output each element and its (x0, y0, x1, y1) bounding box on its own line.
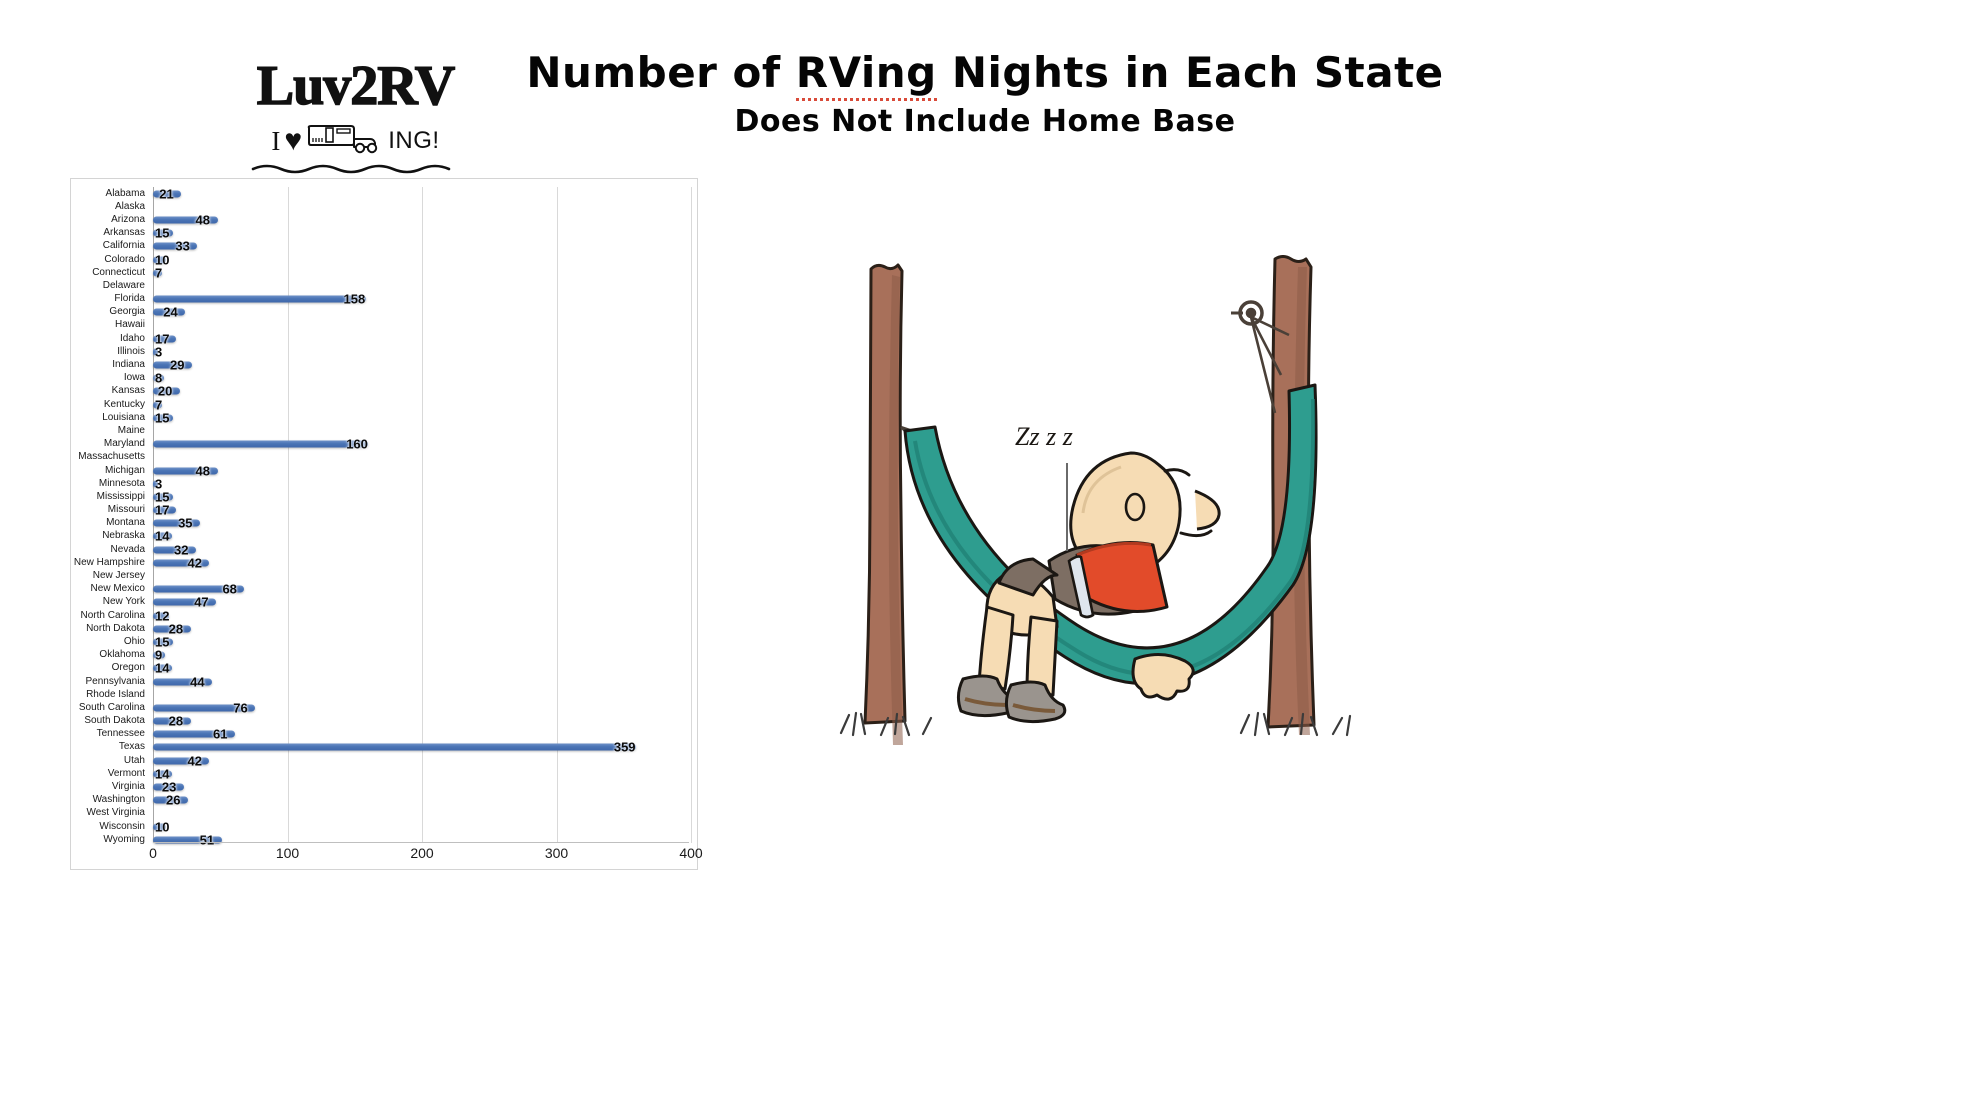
bar-value-label: 15 (155, 410, 169, 425)
bar-track: 33 (153, 240, 697, 253)
chart-row: Vermont14 (71, 767, 697, 780)
category-label-new-jersey: New Jersey (71, 571, 153, 581)
bar-track: 17 (153, 504, 697, 517)
category-label-maryland: Maryland (71, 439, 153, 449)
category-label-california: California (71, 241, 153, 251)
bar-value-label: 44 (190, 674, 204, 689)
category-label-alaska: Alaska (71, 202, 153, 212)
chart-row: Delaware (71, 279, 697, 292)
logo-wordmark: Luv2RV (218, 58, 493, 114)
chart-row: Mississippi15 (71, 490, 697, 503)
category-label-alabama: Alabama (71, 189, 153, 199)
bar-value-label: 10 (155, 819, 169, 834)
bar-track: 17 (153, 332, 697, 345)
x-tick-label-100: 100 (276, 845, 299, 861)
bar-value-label: 28 (169, 621, 183, 636)
chart-row: Connecticut7 (71, 266, 697, 279)
chart-row: Illinois3 (71, 345, 697, 358)
title-prefix: Number of (526, 48, 795, 97)
bar-track: 10 (153, 820, 697, 833)
bar-track: 23 (153, 780, 697, 793)
chart-row: Kansas20 (71, 385, 697, 398)
category-label-louisiana: Louisiana (71, 413, 153, 423)
category-label-south-dakota: South Dakota (71, 716, 153, 726)
category-label-wisconsin: Wisconsin (71, 822, 153, 832)
chart-row: Wisconsin10 (71, 820, 697, 833)
bar-texas[interactable] (153, 744, 636, 751)
x-tick-label-200: 200 (410, 845, 433, 861)
bar-value-label: 14 (155, 529, 169, 544)
bar-track: 14 (153, 662, 697, 675)
bar-montana[interactable] (153, 520, 200, 527)
x-axis-line (153, 842, 689, 843)
bar-track: 68 (153, 583, 697, 596)
bar-track: 29 (153, 358, 697, 371)
chart-row: Nevada32 (71, 543, 697, 556)
bar-track: 48 (153, 213, 697, 226)
bar-value-label: 3 (155, 344, 162, 359)
bar-track (153, 451, 697, 464)
bar-value-label: 12 (155, 608, 169, 623)
chart-row: Maryland160 (71, 438, 697, 451)
x-tick-label-300: 300 (545, 845, 568, 861)
chart-row: Ohio15 (71, 635, 697, 648)
chart-row: Rhode Island (71, 688, 697, 701)
chart-row: South Carolina76 (71, 701, 697, 714)
category-label-missouri: Missouri (71, 505, 153, 515)
bar-track: 14 (153, 530, 697, 543)
category-label-michigan: Michigan (71, 466, 153, 476)
category-label-delaware: Delaware (71, 281, 153, 291)
chart-row: North Carolina12 (71, 609, 697, 622)
category-label-arizona: Arizona (71, 215, 153, 225)
bar-track: 21 (153, 187, 697, 200)
bar-value-label: 68 (222, 582, 236, 597)
chart-row: Arkansas15 (71, 227, 697, 240)
bar-track: 48 (153, 464, 697, 477)
chart-row: Texas359 (71, 741, 697, 754)
sleeping-man (958, 453, 1219, 722)
category-label-tennessee: Tennessee (71, 729, 153, 739)
bar-value-label: 48 (196, 463, 210, 478)
bar-track: 160 (153, 438, 697, 451)
chart-row: Maine (71, 424, 697, 437)
chart-row: Oregon14 (71, 662, 697, 675)
category-label-rhode-island: Rhode Island (71, 690, 153, 700)
bar-chart: Alabama21AlaskaArizona48Arkansas15Califo… (70, 178, 698, 870)
bar-track: 14 (153, 767, 697, 780)
category-label-north-carolina: North Carolina (71, 611, 153, 621)
bar-track: 3 (153, 345, 697, 358)
category-label-mississippi: Mississippi (71, 492, 153, 502)
category-label-texas: Texas (71, 742, 153, 752)
category-label-kansas: Kansas (71, 386, 153, 396)
bar-track: 7 (153, 266, 697, 279)
bar-track: 42 (153, 754, 697, 767)
chart-row: West Virginia (71, 807, 697, 820)
logo-tagline-ing: ING! (388, 127, 439, 155)
chart-row: Indiana29 (71, 358, 697, 371)
category-label-virginia: Virginia (71, 782, 153, 792)
heart-icon: ♥ (284, 126, 302, 156)
category-label-new-hampshire: New Hampshire (71, 558, 153, 568)
chart-row: Idaho17 (71, 332, 697, 345)
category-label-maine: Maine (71, 426, 153, 436)
category-label-indiana: Indiana (71, 360, 153, 370)
category-label-nevada: Nevada (71, 545, 153, 555)
bar-value-label: 32 (174, 542, 188, 557)
chart-row: Utah42 (71, 754, 697, 767)
category-label-colorado: Colorado (71, 255, 153, 265)
bar-value-label: 160 (346, 437, 368, 452)
bar-track: 32 (153, 543, 697, 556)
page-title: Number of RVing Nights in Each State (470, 48, 1500, 97)
bar-track: 3 (153, 477, 697, 490)
bar-value-label: 33 (175, 239, 189, 254)
zzz-label: Zz z z (1015, 422, 1073, 451)
category-label-ohio: Ohio (71, 637, 153, 647)
bar-value-label: 61 (213, 727, 227, 742)
bar-value-label: 24 (163, 305, 177, 320)
category-label-oregon: Oregon (71, 663, 153, 673)
zzz-sleep-text: Zz z z (1015, 422, 1073, 551)
x-axis-tick-labels: 0100200300400 (153, 845, 689, 867)
category-label-nebraska: Nebraska (71, 531, 153, 541)
bar-track: 47 (153, 596, 697, 609)
page-subtitle: Does Not Include Home Base (470, 104, 1500, 139)
chart-row: New Hampshire42 (71, 556, 697, 569)
bar-value-label: 15 (155, 226, 169, 241)
chart-row: Virginia23 (71, 780, 697, 793)
bar-value-label: 26 (166, 793, 180, 808)
luv2rv-logo: Luv2RV I ♥ ING! (218, 58, 493, 180)
bar-track: 61 (153, 728, 697, 741)
bar-track: 15 (153, 411, 697, 424)
bar-value-label: 158 (344, 292, 366, 307)
bar-track (153, 424, 697, 437)
bar-value-label: 21 (159, 186, 173, 201)
bar-track: 7 (153, 398, 697, 411)
x-tick-label-400: 400 (679, 845, 702, 861)
category-label-iowa: Iowa (71, 373, 153, 383)
category-label-south-carolina: South Carolina (71, 703, 153, 713)
chart-row: North Dakota28 (71, 622, 697, 635)
bar-track (153, 279, 697, 292)
bar-value-label: 359 (614, 740, 636, 755)
chart-row: Oklahoma9 (71, 649, 697, 662)
bar-value-label: 29 (170, 358, 184, 373)
bar-track: 158 (153, 293, 697, 306)
chart-row: Colorado10 (71, 253, 697, 266)
category-label-pennsylvania: Pennsylvania (71, 677, 153, 687)
chart-row: Pennsylvania44 (71, 675, 697, 688)
chart-row: Arizona48 (71, 213, 697, 226)
bar-track (153, 688, 697, 701)
chart-row: Alabama21 (71, 187, 697, 200)
chart-row: Hawaii (71, 319, 697, 332)
title-misspelled-word: RVing (796, 48, 937, 101)
bar-track (153, 807, 697, 820)
chart-row: Louisiana15 (71, 411, 697, 424)
bar-value-label: 42 (187, 555, 201, 570)
bar-track (153, 319, 697, 332)
bar-track (153, 569, 697, 582)
chart-row: Alaska (71, 200, 697, 213)
bar-track: 26 (153, 794, 697, 807)
title-suffix: Nights in Each State (937, 48, 1444, 97)
chart-row: Washington26 (71, 794, 697, 807)
logo-tagline: I ♥ ING! (218, 118, 493, 164)
chart-row: Iowa8 (71, 372, 697, 385)
category-label-massachusetts: Massachusetts (71, 452, 153, 462)
bar-value-label: 14 (155, 661, 169, 676)
bar-track: 12 (153, 609, 697, 622)
category-label-oklahoma: Oklahoma (71, 650, 153, 660)
bar-value-label: 42 (187, 753, 201, 768)
chart-row: Michigan48 (71, 464, 697, 477)
chart-row: Florida158 (71, 293, 697, 306)
bar-track: 359 (153, 741, 697, 754)
chart-plot-area: Alabama21AlaskaArizona48Arkansas15Califo… (71, 187, 697, 869)
bar-track: 76 (153, 701, 697, 714)
category-label-wyoming: Wyoming (71, 835, 153, 845)
logo-tagline-i: I (271, 126, 280, 157)
bar-track: 28 (153, 715, 697, 728)
chart-row: New York47 (71, 596, 697, 609)
category-label-georgia: Georgia (71, 307, 153, 317)
category-label-vermont: Vermont (71, 769, 153, 779)
category-label-new-mexico: New Mexico (71, 584, 153, 594)
chart-row: New Mexico68 (71, 583, 697, 596)
category-label-connecticut: Connecticut (71, 268, 153, 278)
bar-track: 15 (153, 490, 697, 503)
chart-row: California33 (71, 240, 697, 253)
bar-track: 44 (153, 675, 697, 688)
category-label-idaho: Idaho (71, 334, 153, 344)
bar-florida[interactable] (153, 296, 366, 303)
category-label-illinois: Illinois (71, 347, 153, 357)
chart-row: Nebraska14 (71, 530, 697, 543)
chart-row: Tennessee61 (71, 728, 697, 741)
x-tick-label-0: 0 (149, 845, 157, 861)
bar-track: 8 (153, 372, 697, 385)
bar-track: 9 (153, 649, 697, 662)
category-label-florida: Florida (71, 294, 153, 304)
category-label-minnesota: Minnesota (71, 479, 153, 489)
chart-row: New Jersey (71, 569, 697, 582)
bar-track: 20 (153, 385, 697, 398)
chart-row: Montana35 (71, 517, 697, 530)
category-label-montana: Montana (71, 518, 153, 528)
bar-track: 15 (153, 227, 697, 240)
bar-value-label: 35 (178, 516, 192, 531)
bar-track: 24 (153, 306, 697, 319)
hammock-illustration: Zz z z (835, 255, 1375, 755)
category-label-west-virginia: West Virginia (71, 808, 153, 818)
bar-track: 15 (153, 635, 697, 648)
chart-row: Massachusetts (71, 451, 697, 464)
rv-trailer-icon (306, 122, 384, 161)
bar-track: 28 (153, 622, 697, 635)
left-tree-trunk (865, 265, 905, 745)
category-label-hawaii: Hawaii (71, 320, 153, 330)
category-label-new-york: New York (71, 597, 153, 607)
category-label-utah: Utah (71, 756, 153, 766)
logo-squiggle-underline (218, 161, 493, 179)
hammock-scene-svg: Zz z z (835, 255, 1375, 755)
bar-track (153, 200, 697, 213)
chart-row: Georgia24 (71, 306, 697, 319)
chart-row: Kentucky7 (71, 398, 697, 411)
category-label-arkansas: Arkansas (71, 228, 153, 238)
bar-track: 42 (153, 556, 697, 569)
bar-value-label: 28 (169, 714, 183, 729)
chart-row: Minnesota3 (71, 477, 697, 490)
bar-maryland[interactable] (153, 441, 368, 448)
category-label-kentucky: Kentucky (71, 400, 153, 410)
category-label-north-dakota: North Dakota (71, 624, 153, 634)
bar-value-label: 48 (196, 212, 210, 227)
bar-track: 35 (153, 517, 697, 530)
bar-value-label: 7 (155, 265, 162, 280)
bar-value-label: 76 (233, 700, 247, 715)
bar-track: 10 (153, 253, 697, 266)
chart-row: Missouri17 (71, 504, 697, 517)
chart-row: South Dakota28 (71, 715, 697, 728)
category-label-washington: Washington (71, 795, 153, 805)
bar-value-label: 47 (194, 595, 208, 610)
bar-value-label: 17 (155, 503, 169, 518)
